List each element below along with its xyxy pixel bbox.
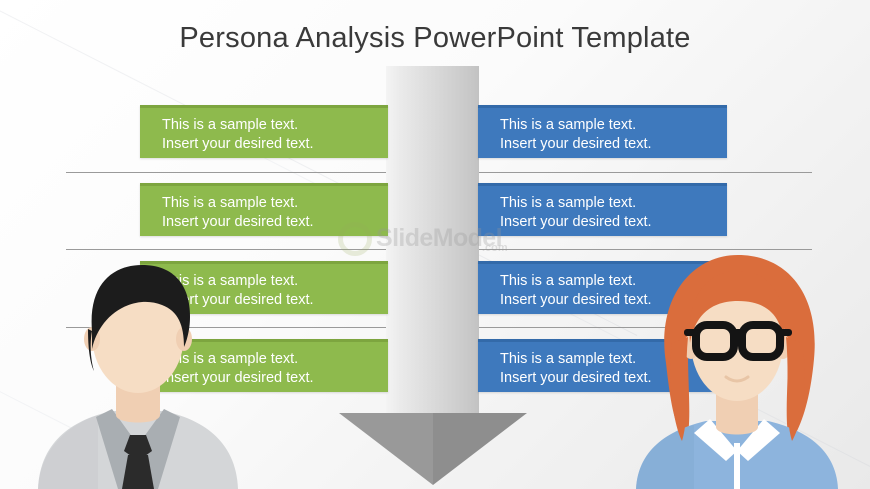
presentation-slide: Persona Analysis PowerPoint Template Thi… <box>0 0 870 489</box>
text-box-line-2: Insert your desired text. <box>500 213 727 232</box>
male-jacket-shadow <box>38 415 98 489</box>
text-box-right-2[interactable]: This is a sample text. Insert your desir… <box>478 183 727 236</box>
female-shirt-shadow <box>636 425 694 489</box>
down-arrow-shaft <box>386 66 479 417</box>
text-box-left-1[interactable]: This is a sample text. Insert your desir… <box>140 105 388 158</box>
text-box-line-1: This is a sample text. <box>162 116 388 135</box>
watermark-suffix: .com <box>482 242 508 254</box>
text-box-line-1: This is a sample text. <box>162 194 388 213</box>
female-persona-avatar <box>622 237 852 489</box>
text-box-line-1: This is a sample text. <box>500 116 727 135</box>
male-persona-avatar <box>28 239 248 489</box>
text-box-line-2: Insert your desired text. <box>162 135 388 154</box>
text-box-line-1: This is a sample text. <box>500 194 727 213</box>
down-arrow-head-highlight <box>339 413 433 485</box>
page-title: Persona Analysis PowerPoint Template <box>0 22 870 55</box>
text-box-line-2: Insert your desired text. <box>162 213 388 232</box>
text-box-line-2: Insert your desired text. <box>500 135 727 154</box>
text-box-left-2[interactable]: This is a sample text. Insert your desir… <box>140 183 388 236</box>
text-box-right-1[interactable]: This is a sample text. Insert your desir… <box>478 105 727 158</box>
